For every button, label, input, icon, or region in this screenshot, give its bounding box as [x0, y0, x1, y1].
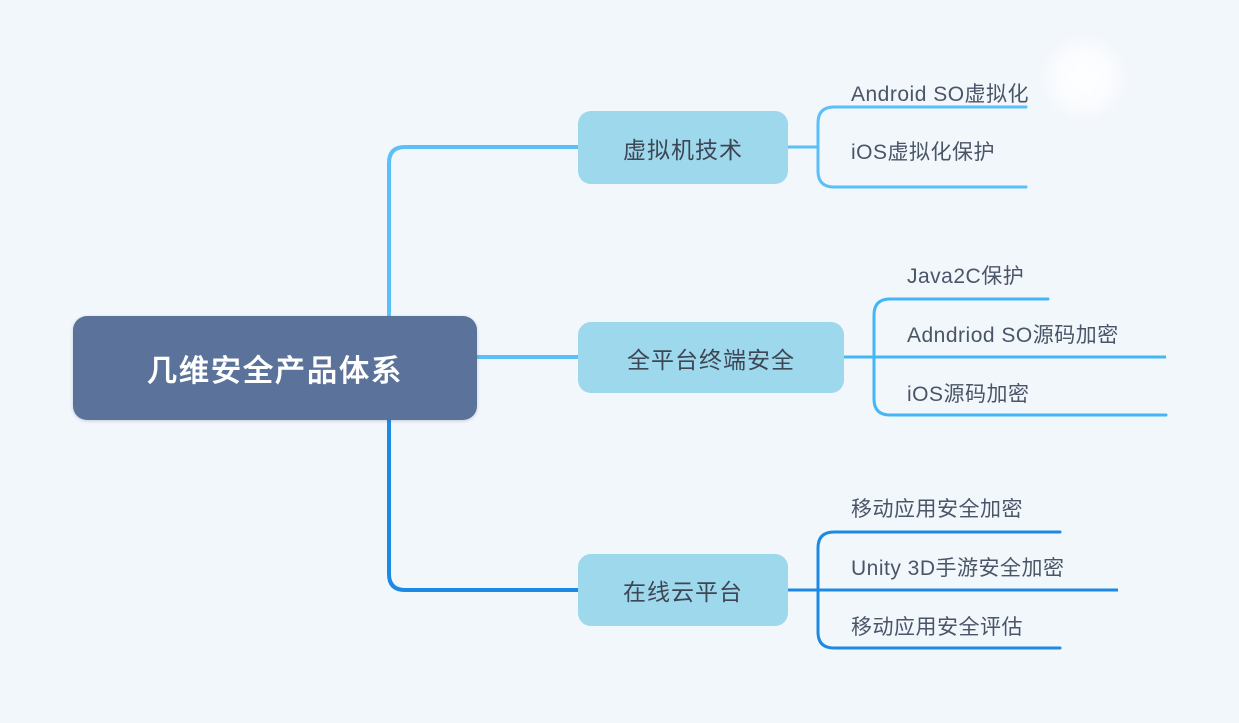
branch-node-platform-security-label: 全平台终端安全	[627, 341, 795, 375]
leaf-ios-virtualization-protection-label: iOS虚拟化保护	[851, 141, 995, 164]
branch-node-cloud-platform[interactable]: 在线云平台	[578, 554, 788, 626]
leaf-android-so-source-encryption-label: Adndriod SO源码加密	[907, 324, 1119, 347]
leaf-ios-source-encryption-label: iOS源码加密	[907, 383, 1030, 406]
branch-node-virtualization[interactable]: 虚拟机技术	[578, 111, 788, 184]
leaf-unity3d-game-security-encryption[interactable]: Unity 3D手游安全加密	[851, 552, 1065, 582]
leaf-android-so-virtualization-label: Android SO虚拟化	[851, 83, 1029, 106]
mindmap-canvas: 几维安全产品体系 虚拟机技术 Android SO虚拟化 iOS虚拟化保护 全平…	[0, 0, 1239, 723]
root-node[interactable]: 几维安全产品体系	[73, 316, 477, 420]
connector-root-to-cloud-platform	[389, 420, 578, 590]
leaf-mobile-app-security-assessment-label: 移动应用安全评估	[851, 616, 1023, 639]
leaf-ios-virtualization-protection[interactable]: iOS虚拟化保护	[851, 136, 995, 166]
leaf-java2c-protection-label: Java2C保护	[907, 265, 1024, 288]
connector-root-to-virtualization	[389, 147, 578, 316]
leaf-mobile-app-security-encryption[interactable]: 移动应用安全加密	[851, 493, 1023, 523]
leaf-mobile-app-security-encryption-label: 移动应用安全加密	[851, 498, 1023, 521]
leaf-android-so-virtualization[interactable]: Android SO虚拟化	[851, 78, 1029, 108]
leaf-android-so-source-encryption[interactable]: Adndriod SO源码加密	[907, 319, 1119, 349]
leaf-mobile-app-security-assessment[interactable]: 移动应用安全评估	[851, 611, 1023, 641]
branch-node-platform-security[interactable]: 全平台终端安全	[578, 322, 844, 393]
leaf-ios-source-encryption[interactable]: iOS源码加密	[907, 378, 1030, 408]
branch-node-cloud-platform-label: 在线云平台	[623, 573, 743, 607]
branch-node-virtualization-label: 虚拟机技术	[623, 131, 743, 165]
leaf-java2c-protection[interactable]: Java2C保护	[907, 260, 1024, 290]
leaf-unity3d-game-security-encryption-label: Unity 3D手游安全加密	[851, 557, 1065, 580]
root-node-label: 几维安全产品体系	[147, 346, 403, 390]
